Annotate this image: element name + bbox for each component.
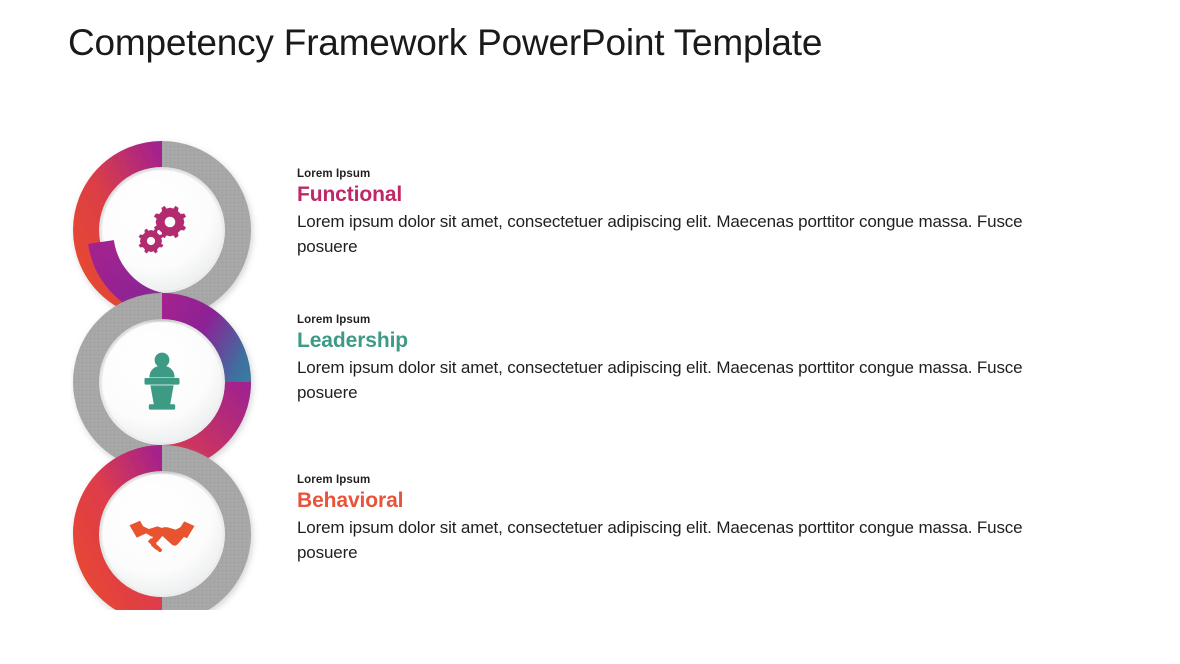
item-eyebrow: Lorem Ipsum	[297, 168, 1087, 180]
item-eyebrow: Lorem Ipsum	[297, 474, 1087, 486]
list-item: Lorem Ipsum Behavioral Lorem ipsum dolor…	[297, 474, 1087, 566]
slide-canvas: Competency Framework PowerPoint Template	[0, 0, 1180, 664]
page-title: Competency Framework PowerPoint Template	[68, 22, 822, 64]
list-item: Lorem Ipsum Functional Lorem ipsum dolor…	[297, 168, 1087, 260]
item-eyebrow: Lorem Ipsum	[297, 314, 1087, 326]
list-item: Lorem Ipsum Leadership Lorem ipsum dolor…	[297, 314, 1087, 406]
item-body: Lorem ipsum dolor sit amet, consectetuer…	[297, 209, 1072, 261]
item-heading: Functional	[297, 183, 1087, 207]
competency-rings-graphic	[70, 138, 275, 610]
item-body: Lorem ipsum dolor sit amet, consectetuer…	[297, 355, 1072, 407]
item-heading: Behavioral	[297, 489, 1087, 513]
item-body: Lorem ipsum dolor sit amet, consectetuer…	[297, 515, 1072, 567]
item-heading: Leadership	[297, 329, 1087, 353]
